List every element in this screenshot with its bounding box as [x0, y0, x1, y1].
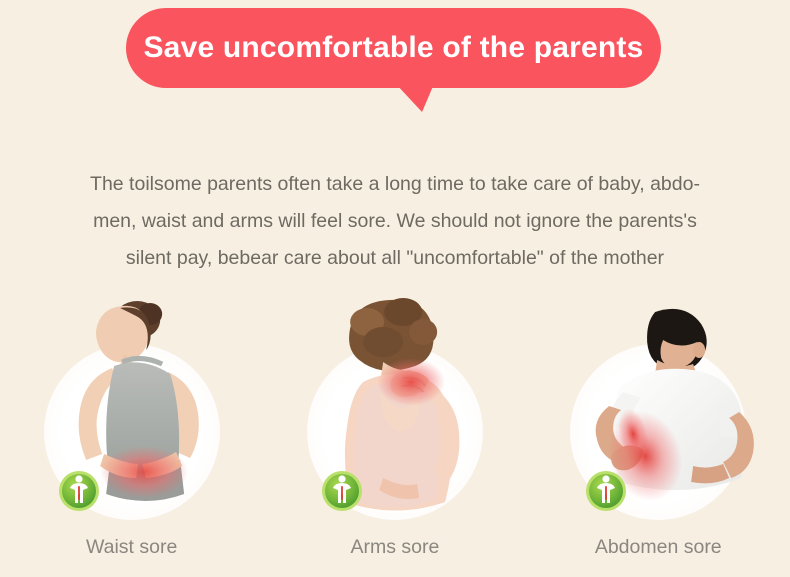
body-figure-badge-icon	[321, 470, 363, 512]
intro-line-3: silent pay, bebear care about all "uncom…	[50, 240, 740, 277]
photo-area	[527, 296, 790, 528]
headline-bubble-body: Save uncomfortable of the parents	[126, 8, 661, 88]
speech-bubble-tail-icon	[392, 84, 434, 112]
symptom-panel-arms: Arms sore	[263, 296, 526, 577]
symptom-panel-row: Waist sore	[0, 296, 790, 577]
panel-caption: Arms sore	[263, 534, 526, 560]
intro-paragraph: The toilsome parents often take a long t…	[50, 166, 740, 277]
intro-line-1: The toilsome parents often take a long t…	[50, 166, 740, 203]
body-figure-badge-icon	[585, 470, 627, 512]
symptom-panel-waist: Waist sore	[0, 296, 263, 577]
page-title: Save uncomfortable of the parents	[143, 33, 643, 63]
woman-holding-shoulder-photo	[263, 296, 526, 528]
photo-area	[0, 296, 263, 528]
panel-caption: Abdomen sore	[527, 534, 790, 560]
symptom-panel-abdomen: Abdomen sore	[527, 296, 790, 577]
headline-speech-bubble: Save uncomfortable of the parents	[126, 8, 661, 88]
woman-holding-lower-back-photo	[0, 296, 263, 528]
panel-caption: Waist sore	[0, 534, 263, 560]
photo-area	[263, 296, 526, 528]
body-figure-badge-icon	[58, 470, 100, 512]
man-holding-side-abdomen-photo	[527, 296, 790, 528]
intro-line-2: men, waist and arms will feel sore. We s…	[50, 203, 740, 240]
